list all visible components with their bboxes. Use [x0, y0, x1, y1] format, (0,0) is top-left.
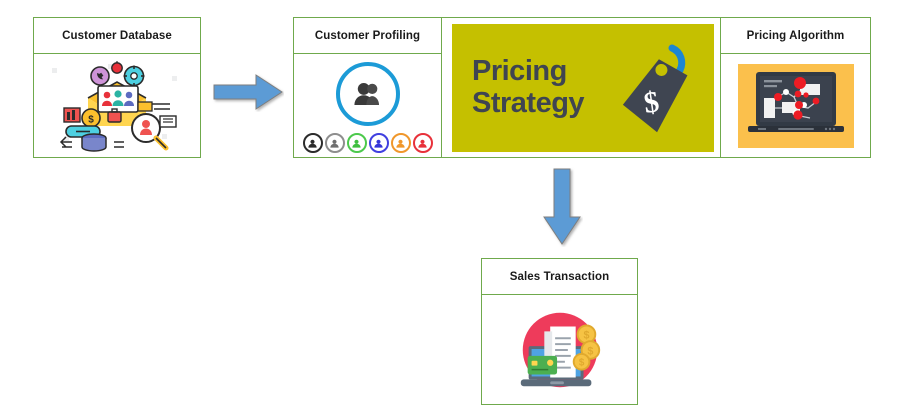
price-tag-icon: $: [608, 40, 700, 140]
pricing-algorithm-title: Pricing Algorithm: [721, 18, 870, 54]
customer-database-title: Customer Database: [34, 18, 200, 54]
avatar-chip: [369, 133, 389, 153]
avatar-chip: [391, 133, 411, 153]
pricing-algorithm-body: [721, 54, 870, 157]
customer-database-body: $: [34, 54, 200, 157]
pricing-strategy-banner: Pricing Strategy $: [452, 24, 714, 152]
node-sales-transaction[interactable]: Sales Transaction: [481, 258, 638, 405]
svg-text:$: $: [583, 329, 589, 341]
avatar-chip: [413, 133, 433, 153]
sales-transaction-title: Sales Transaction: [482, 259, 637, 295]
arrow-down-icon: [541, 167, 583, 247]
middle-panel-group: Customer Profiling: [293, 17, 871, 158]
avatar-chip: [303, 133, 323, 153]
node-customer-database[interactable]: Customer Database: [33, 17, 201, 158]
customer-database-illustration: $: [42, 56, 192, 156]
pricing-strategy-line1: Pricing: [472, 56, 584, 87]
svg-text:$: $: [587, 345, 593, 357]
customer-profiling-title: Customer Profiling: [294, 18, 441, 54]
pricing-strategy-line2: Strategy: [472, 88, 584, 119]
node-customer-profiling[interactable]: Customer Profiling: [293, 17, 442, 158]
laptop-network-illustration: [738, 64, 854, 148]
diagram-canvas: Customer Database: [0, 0, 903, 415]
customer-profiling-body: [294, 54, 441, 157]
laptop-receipt-payment-illustration: $ $ $: [511, 301, 609, 399]
avatar-chip: [347, 133, 367, 153]
avatar-chip: [325, 133, 345, 153]
node-pricing-strategy[interactable]: Pricing Strategy $: [441, 17, 725, 158]
svg-text:$: $: [578, 357, 584, 368]
pricing-strategy-text: Pricing Strategy: [472, 56, 584, 119]
user-profile-icon: [336, 62, 400, 126]
node-pricing-algorithm[interactable]: Pricing Algorithm: [720, 17, 871, 158]
arrow-right-icon: [212, 72, 284, 112]
avatar-chip-row: [303, 133, 433, 153]
sales-transaction-body: $ $ $: [482, 295, 637, 404]
svg-text:$: $: [88, 114, 94, 125]
